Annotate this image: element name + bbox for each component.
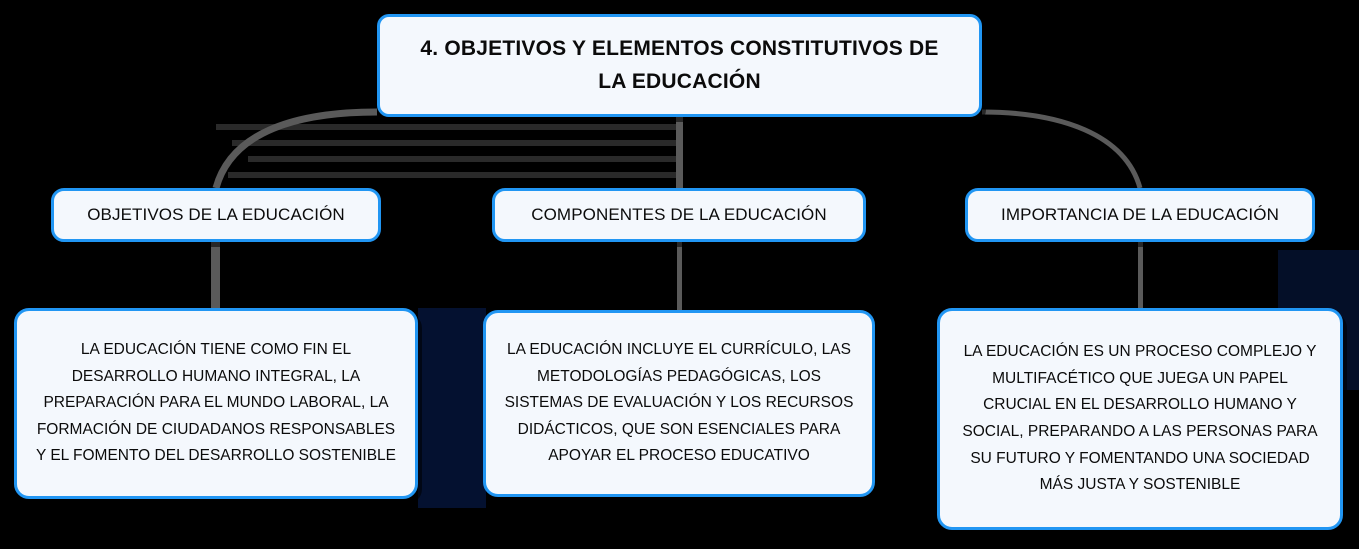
background-stripe [248, 156, 682, 162]
root-node-label: 4. OBJETIVOS Y ELEMENTOS CONSTITUTIVOS D… [380, 33, 979, 98]
branch-node-objetivos[interactable]: OBJETIVOS DE LA EDUCACIÓN [51, 188, 381, 242]
branch-node-label: COMPONENTES DE LA EDUCACIÓN [517, 205, 841, 225]
branch-node-label: OBJETIVOS DE LA EDUCACIÓN [73, 205, 359, 225]
detail-node-text: LA EDUCACIÓN INCLUYE EL CURRÍCULO, LAS M… [486, 329, 872, 478]
concept-map-canvas: 4. OBJETIVOS Y ELEMENTOS CONSTITUTIVOS D… [0, 0, 1359, 549]
connector-root-to-right [982, 112, 1140, 188]
background-stripe [232, 140, 682, 146]
branch-node-importancia[interactable]: IMPORTANCIA DE LA EDUCACIÓN [965, 188, 1315, 242]
background-stripe [228, 172, 682, 178]
connector-branch2-to-detail [677, 240, 682, 312]
connector-root-to-center [676, 115, 683, 190]
connector-branch1-to-detail [211, 240, 220, 310]
branch-node-componentes[interactable]: COMPONENTES DE LA EDUCACIÓN [492, 188, 866, 242]
detail-node-text: LA EDUCACIÓN ES UN PROCESO COMPLEJO Y MU… [940, 331, 1340, 507]
detail-node-importancia[interactable]: LA EDUCACIÓN ES UN PROCESO COMPLEJO Y MU… [937, 308, 1343, 530]
branch-node-label: IMPORTANCIA DE LA EDUCACIÓN [987, 205, 1293, 225]
background-panel [418, 308, 486, 508]
detail-node-text: LA EDUCACIÓN TIENE COMO FIN EL DESARROLL… [17, 329, 415, 478]
connector-root-to-left [216, 112, 377, 188]
root-node[interactable]: 4. OBJETIVOS Y ELEMENTOS CONSTITUTIVOS D… [377, 14, 982, 117]
background-stripe [216, 124, 682, 130]
connector-branch3-to-detail [1138, 240, 1143, 310]
detail-node-objetivos[interactable]: LA EDUCACIÓN TIENE COMO FIN EL DESARROLL… [14, 308, 418, 499]
detail-node-componentes[interactable]: LA EDUCACIÓN INCLUYE EL CURRÍCULO, LAS M… [483, 310, 875, 497]
